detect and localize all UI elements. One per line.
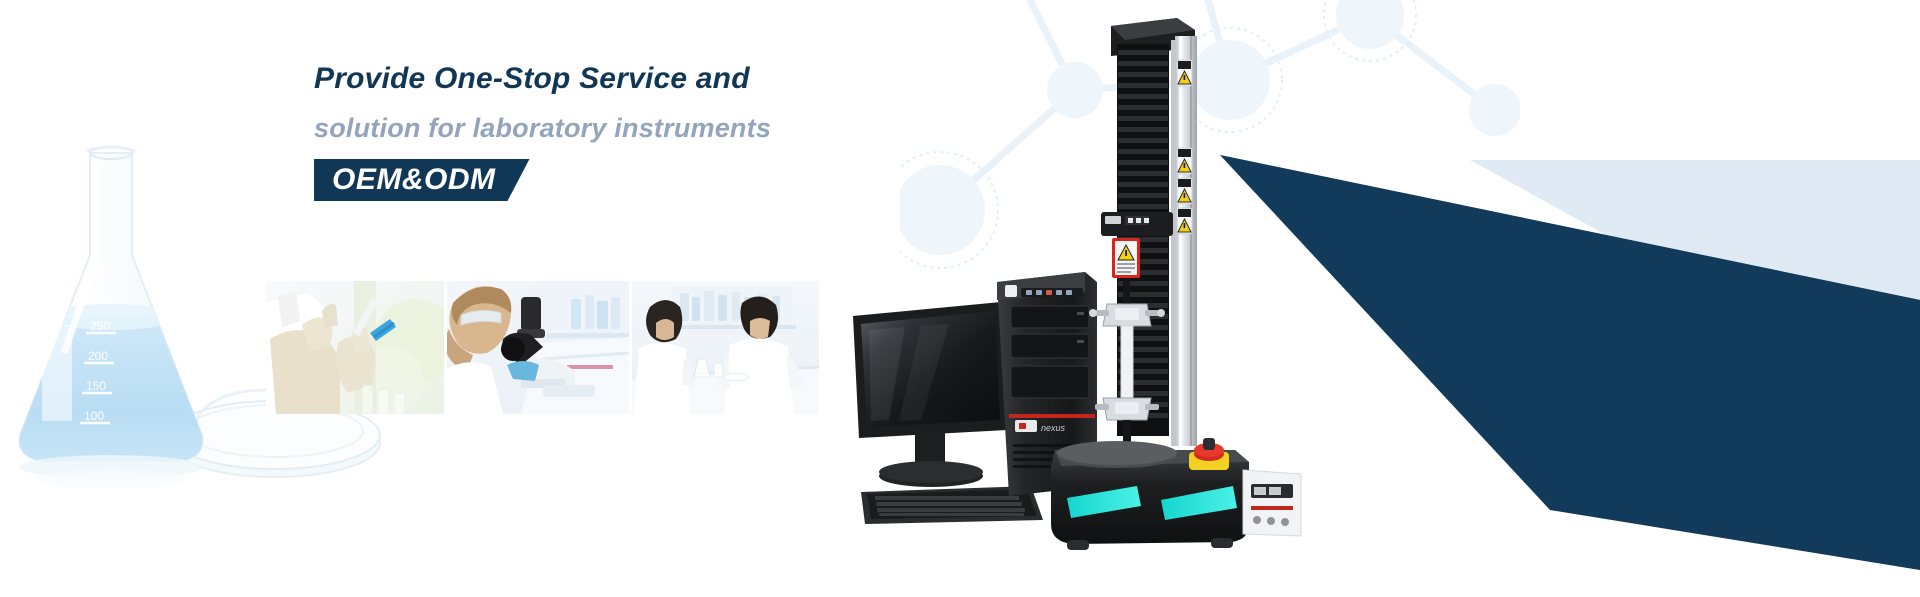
oem-odm-badge: OEM&ODM: [314, 159, 530, 201]
photo-lab-bench: [632, 281, 819, 414]
flask-graduation-200: 200: [88, 349, 108, 363]
control-panel: [1243, 470, 1301, 536]
keyboard: [861, 486, 1043, 524]
warning-label: [1177, 208, 1192, 234]
photo-pipetting: [266, 281, 444, 414]
headline-block: Provide One-Stop Service and solution fo…: [314, 55, 1034, 201]
light-blue-triangle: [1340, 148, 1920, 448]
flask-graduation-250: 250: [90, 319, 110, 333]
warning-label: [1177, 148, 1192, 174]
warning-label: [1177, 60, 1192, 86]
dark-arrow-triangle: [1220, 150, 1920, 570]
svg-text:nexus: nexus: [1041, 423, 1066, 433]
base-accent-light-right: [1161, 486, 1237, 520]
erlenmeyer-flask: 300 250 200 150 100 mL: [8, 147, 214, 489]
universal-testing-machine: [1051, 18, 1301, 550]
load-cell-warning-plate: [1112, 238, 1140, 278]
upper-grip: [1089, 304, 1165, 326]
crosshead: [1101, 212, 1173, 236]
photo-microscope: [447, 281, 629, 414]
hero-banner: 300 250 200 150 100 mL Provide One-Stop …: [0, 0, 1920, 597]
desktop-tower: nexus: [997, 272, 1097, 496]
headline-line-2: solution for laboratory instruments: [314, 103, 1034, 153]
emergency-stop-button: [1189, 438, 1229, 470]
flask-unit-label: mL: [52, 308, 67, 320]
warning-label: [1177, 178, 1192, 204]
headline-line-1: Provide One-Stop Service and: [314, 55, 1034, 103]
flask-graduation-150: 150: [86, 379, 106, 393]
photo-strip: [266, 281, 819, 414]
base-accent-light-left: [1067, 486, 1141, 518]
lower-grip: [1095, 398, 1159, 420]
flask-graduation-100: 100: [84, 409, 104, 423]
desktop-monitor: [853, 302, 1007, 487]
flask-graduation-300: 300: [90, 289, 110, 303]
